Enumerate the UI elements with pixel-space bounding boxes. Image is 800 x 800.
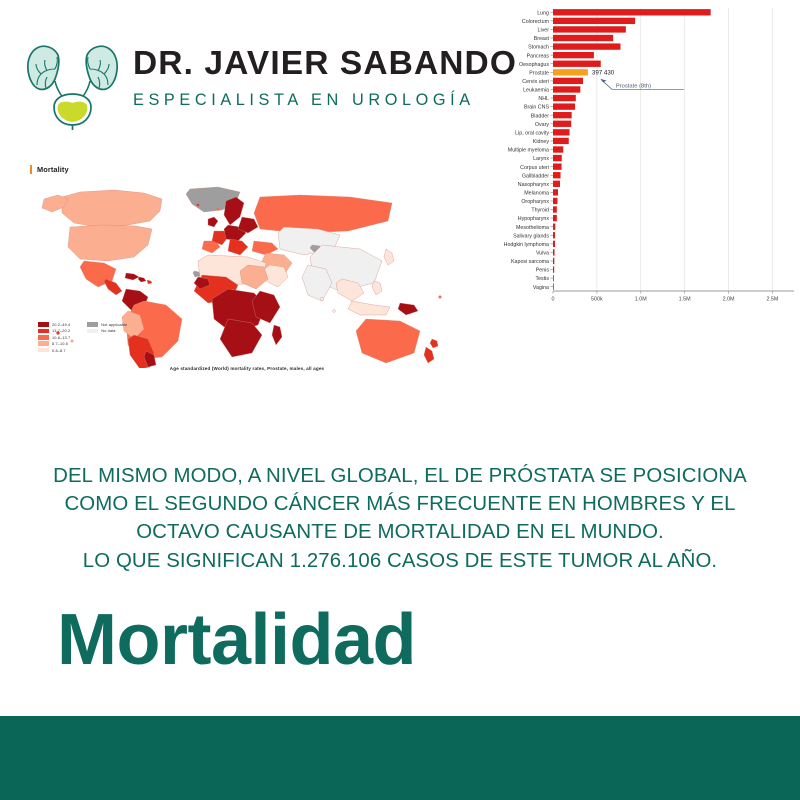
legend-swatch xyxy=(38,341,49,346)
bar xyxy=(553,61,601,67)
map-title-label: Mortality xyxy=(37,165,69,174)
category-label: Melanoma xyxy=(524,190,549,196)
bar xyxy=(553,78,583,84)
legend-swatch xyxy=(38,329,49,334)
bar xyxy=(553,103,575,109)
copy-line: DEL MISMO MODO, A NIVEL GLOBAL, EL DE PR… xyxy=(0,462,800,490)
bar xyxy=(553,284,554,290)
bar xyxy=(553,18,635,24)
category-label: Kaposi sarcoma xyxy=(511,259,549,265)
category-label: Stomach xyxy=(528,45,549,51)
bar xyxy=(553,112,572,118)
annotation-label: Prostate (8th) xyxy=(616,84,651,90)
category-label: Colorectum xyxy=(522,19,550,25)
category-label: NHL xyxy=(538,96,549,102)
legend-label: 10.6–13.7 xyxy=(52,335,70,340)
bar xyxy=(553,121,571,127)
legend-label: 20.2–49.4 xyxy=(52,322,70,327)
category-label: Hodgkin lymphoma xyxy=(504,242,549,248)
category-label: Lung xyxy=(537,10,549,16)
bar xyxy=(553,224,555,230)
legend-label: 13.7–20.2 xyxy=(52,328,70,333)
legend-swatch xyxy=(38,335,49,340)
copy-line: COMO EL SEGUNDO CÁNCER MÁS FRECUENTE EN … xyxy=(0,490,800,518)
title-accent-bar xyxy=(30,165,32,174)
brand-wordmark: DR. JAVIER SABANDO ESPECIALISTA EN UROLO… xyxy=(133,47,517,110)
legend-item: No data xyxy=(87,328,127,333)
category-label: Cervix uteri xyxy=(522,79,549,85)
x-tick-label: 2.5M xyxy=(766,297,778,303)
category-label: Vagina xyxy=(533,285,549,291)
chart-bars xyxy=(553,9,711,290)
category-label: Hypopharynx xyxy=(518,216,550,222)
legend-label: Not applicable xyxy=(101,322,127,327)
legend-ranges: 20.2–49.4 13.7–20.2 10.6–13.7 8.7–10.5 0… xyxy=(38,322,70,353)
legend-item: 8.7–10.5 xyxy=(38,341,70,346)
legend-other: Not applicable No data xyxy=(87,322,127,353)
brand-tagline: ESPECIALISTA EN UROLOGÍA xyxy=(133,91,517,110)
x-tick-label: 0 xyxy=(552,297,555,303)
footer-bar xyxy=(0,716,800,800)
legend-item: 20.2–49.4 xyxy=(38,322,70,327)
bar xyxy=(553,181,560,187)
category-label: Breast xyxy=(534,36,550,42)
annotation-arrow-icon xyxy=(600,79,606,82)
legend-swatch xyxy=(38,348,49,353)
bar xyxy=(553,52,594,58)
category-label: Leukaemia xyxy=(523,88,549,94)
x-tick-label: 500k xyxy=(591,297,603,303)
mortality-map-panel: Mortality xyxy=(22,165,472,395)
page-headline: Mortalidad xyxy=(57,604,416,676)
bar xyxy=(553,189,558,195)
category-label: Kidney xyxy=(533,139,550,145)
bar xyxy=(553,163,562,169)
bar xyxy=(553,215,557,221)
category-label: Liver xyxy=(538,28,550,34)
legend-item: 13.7–20.2 xyxy=(38,328,70,333)
category-label: Ovary xyxy=(535,122,549,128)
bar xyxy=(553,232,555,238)
map-caption: Age standardized (World) mortality rates… xyxy=(22,366,472,371)
category-label: Gallbladder xyxy=(522,173,549,179)
chart-category-labels: LungColorectumLiverBreastStomachPancreas… xyxy=(504,10,553,290)
category-label: Prostate xyxy=(529,70,549,76)
category-label: Thyroid xyxy=(531,208,549,214)
bar xyxy=(553,172,561,178)
x-tick-label: 2.0M xyxy=(723,297,735,303)
bar xyxy=(553,146,563,152)
brand-logo: DR. JAVIER SABANDO ESPECIALISTA EN UROLO… xyxy=(25,33,465,135)
map-title: Mortality xyxy=(30,165,472,174)
bar xyxy=(553,138,569,144)
bar-highlighted xyxy=(553,69,588,75)
category-label: Bladder xyxy=(531,113,549,119)
map-legend: 20.2–49.4 13.7–20.2 10.6–13.7 8.7–10.5 0… xyxy=(38,322,127,353)
legend-item: Not applicable xyxy=(87,322,127,327)
brand-name: DR. JAVIER SABANDO xyxy=(133,47,517,81)
legend-label: No data xyxy=(101,328,115,333)
bar xyxy=(553,35,613,41)
bar xyxy=(553,26,626,32)
category-label: Nasopharynx xyxy=(518,182,550,188)
x-tick-label: 1.5M xyxy=(679,297,691,303)
legend-swatch xyxy=(38,322,49,327)
category-label: Testis xyxy=(535,276,549,282)
kidneys-bladder-icon xyxy=(25,33,120,133)
category-label: Corpus uteri xyxy=(520,165,549,171)
category-label: Oesophagus xyxy=(519,62,549,68)
legend-item: 0.8–8.7 xyxy=(38,348,70,353)
body-copy: DEL MISMO MODO, A NIVEL GLOBAL, EL DE PR… xyxy=(0,462,800,575)
bar xyxy=(553,258,554,264)
chart-annotation-group: 397 430 Prostate (8th) xyxy=(592,70,684,90)
x-tick-label: 1.0M xyxy=(635,297,647,303)
category-label: Vulva xyxy=(536,251,549,257)
highlight-value-label: 397 430 xyxy=(592,70,615,77)
copy-line: OCTAVO CAUSANTE DE MORTALIDAD EN EL MUND… xyxy=(0,518,800,546)
copy-line: LO QUE SIGNIFICAN 1.276.106 CASOS DE EST… xyxy=(0,547,800,575)
category-label: Salivary glands xyxy=(513,233,549,239)
category-label: Oropharynx xyxy=(521,199,549,205)
bar xyxy=(553,266,554,272)
bar xyxy=(553,155,562,161)
cancer-mortality-bar-chart: LungColorectumLiverBreastStomachPancreas… xyxy=(484,2,798,314)
chart-svg: LungColorectumLiverBreastStomachPancreas… xyxy=(484,2,798,314)
legend-swatch xyxy=(87,322,98,327)
bar xyxy=(553,43,620,49)
category-label: Penis xyxy=(536,268,550,274)
bar xyxy=(553,95,576,101)
category-label: Larynx xyxy=(533,156,549,162)
bar xyxy=(553,9,711,15)
legend-label: 8.7–10.5 xyxy=(52,341,68,346)
chart-x-axis: 0500k1.0M1.5M2.0M2.5M xyxy=(552,291,795,303)
legend-item: 10.6–13.7 xyxy=(38,335,70,340)
bar xyxy=(553,275,554,281)
chart-gridlines xyxy=(597,8,773,291)
category-label: Multiple myeloma xyxy=(508,148,549,154)
bar xyxy=(553,249,555,255)
bar xyxy=(553,129,570,135)
bar xyxy=(553,86,580,92)
category-label: Pancreas xyxy=(527,53,550,59)
category-label: Brain CNS xyxy=(524,105,549,111)
legend-label: 0.8–8.7 xyxy=(52,348,66,353)
bar xyxy=(553,241,555,247)
category-label: Mesothelioma xyxy=(516,225,549,231)
bar xyxy=(553,198,557,204)
legend-swatch xyxy=(87,329,98,334)
category-label: Lip, oral cavity xyxy=(515,130,549,136)
bar xyxy=(553,206,557,212)
